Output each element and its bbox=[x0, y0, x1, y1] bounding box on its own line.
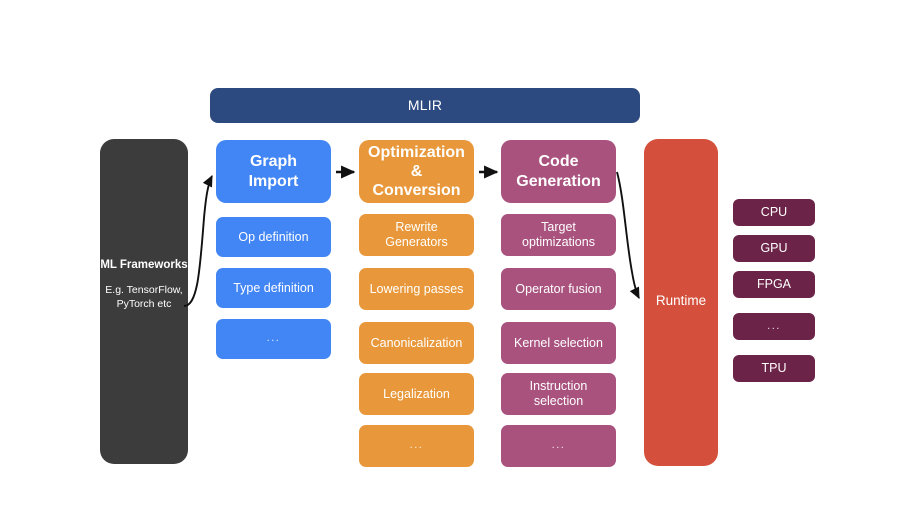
item-label: ... bbox=[267, 332, 281, 345]
hardware-item-fpga[interactable]: FPGA bbox=[733, 271, 815, 298]
hardware-item-cpu[interactable]: CPU bbox=[733, 199, 815, 226]
item-graph-import-more[interactable]: ... bbox=[216, 319, 331, 359]
item-instruction-selection[interactable]: Instruction selection bbox=[501, 373, 616, 415]
stage-head-code-generation[interactable]: Code Generation bbox=[501, 140, 616, 203]
item-label: ... bbox=[410, 439, 424, 452]
item-label: Kernel selection bbox=[514, 336, 603, 351]
item-operator-fusion[interactable]: Operator fusion bbox=[501, 268, 616, 310]
hardware-item-tpu[interactable]: TPU bbox=[733, 355, 815, 382]
ml-frameworks-title: ML Frameworks bbox=[100, 258, 188, 274]
stage-head-optimization-text: Optimization & Conversion bbox=[365, 143, 468, 201]
ml-frameworks-subtitle: E.g. TensorFlow, PyTorch etc bbox=[100, 283, 188, 311]
arrow-frameworks-to-graph-import bbox=[184, 176, 212, 306]
mlir-bar-label: MLIR bbox=[408, 97, 442, 114]
hardware-label: ... bbox=[767, 320, 781, 333]
item-target-optimizations[interactable]: Target optimizations bbox=[501, 214, 616, 256]
hardware-item-more[interactable]: ... bbox=[733, 313, 815, 340]
arrow-codegen-to-runtime bbox=[617, 172, 639, 298]
item-canonicalization[interactable]: Canonicalization bbox=[359, 322, 474, 364]
runtime-label: Runtime bbox=[644, 293, 718, 308]
stage-head-line2: Import bbox=[249, 173, 299, 190]
item-kernel-selection[interactable]: Kernel selection bbox=[501, 322, 616, 364]
item-optimization-more[interactable]: ... bbox=[359, 425, 474, 467]
hardware-label: TPU bbox=[762, 361, 787, 376]
stage-head-line1: Code bbox=[539, 153, 579, 170]
item-label: Instruction selection bbox=[507, 379, 610, 409]
item-label: ... bbox=[552, 439, 566, 452]
hardware-label: GPU bbox=[760, 241, 787, 256]
stage-head-line1: Optimization bbox=[368, 144, 465, 161]
hardware-label: FPGA bbox=[757, 277, 791, 292]
item-label: Legalization bbox=[383, 387, 450, 402]
diagram-canvas: MLIR ML Frameworks E.g. TensorFlow, PyTo… bbox=[0, 0, 900, 505]
item-label: Type definition bbox=[233, 281, 314, 296]
item-codegen-more[interactable]: ... bbox=[501, 425, 616, 467]
stage-head-line2: Generation bbox=[516, 173, 600, 190]
item-label: Target optimizations bbox=[507, 220, 610, 250]
item-label: Op definition bbox=[238, 230, 308, 245]
stage-head-line1: Graph bbox=[250, 153, 297, 170]
item-legalization[interactable]: Legalization bbox=[359, 373, 474, 415]
mlir-bar: MLIR bbox=[210, 88, 640, 123]
item-type-definition[interactable]: Type definition bbox=[216, 268, 331, 308]
item-lowering-passes[interactable]: Lowering passes bbox=[359, 268, 474, 310]
stage-head-graph-import-text: Graph Import bbox=[249, 152, 299, 190]
stage-head-optimization-conversion[interactable]: Optimization & Conversion bbox=[359, 140, 474, 203]
item-op-definition[interactable]: Op definition bbox=[216, 217, 331, 257]
hardware-item-gpu[interactable]: GPU bbox=[733, 235, 815, 262]
item-rewrite-generators[interactable]: Rewrite Generators bbox=[359, 214, 474, 256]
ml-frameworks-text: ML Frameworks E.g. TensorFlow, PyTorch e… bbox=[100, 258, 188, 311]
item-label: Canonicalization bbox=[371, 336, 463, 351]
stage-head-line2: & Conversion bbox=[372, 163, 460, 199]
hardware-label: CPU bbox=[761, 205, 787, 220]
stage-head-codegen-text: Code Generation bbox=[516, 152, 600, 190]
item-label: Lowering passes bbox=[370, 282, 464, 297]
item-label: Rewrite Generators bbox=[365, 220, 468, 250]
item-label: Operator fusion bbox=[515, 282, 601, 297]
stage-head-graph-import[interactable]: Graph Import bbox=[216, 140, 331, 203]
